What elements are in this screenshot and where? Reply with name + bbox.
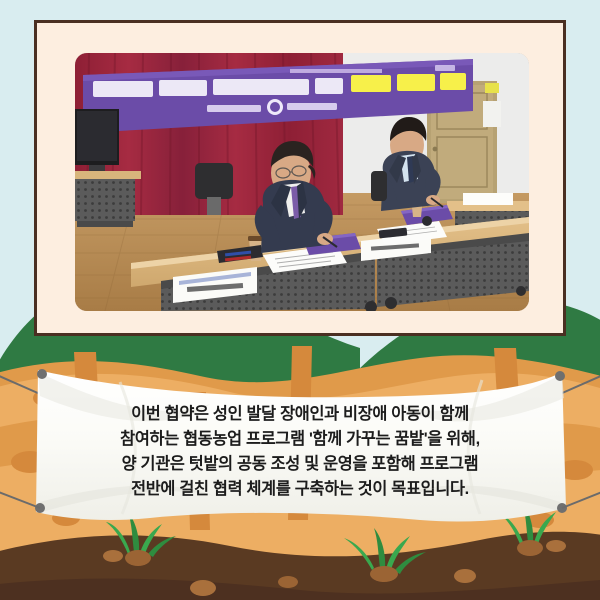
rope-bottom-left	[0, 488, 40, 508]
dark-soil-shadow	[0, 578, 600, 600]
rock-3	[454, 569, 476, 583]
rope-bottom-right	[562, 488, 600, 508]
rock-2	[278, 576, 298, 588]
cloth-banner: 이번 협약은 성인 발달 장애인과 비장애 아동이 함께 참여하는 협동농업 프…	[0, 352, 600, 552]
cardnews-slide: 이번 협약은 성인 발달 장애인과 비장애 아동이 함께 참여하는 협동농업 프…	[0, 0, 600, 600]
grommet-top-left	[37, 369, 47, 379]
photo-frame	[34, 20, 566, 336]
grommet-top-right	[555, 371, 565, 381]
rock-1	[190, 580, 216, 596]
signing-ceremony-photo	[75, 53, 529, 311]
banner-description-text: 이번 협약은 성인 발달 장애인과 비장애 아동이 함께 참여하는 협동농업 프…	[55, 402, 545, 502]
